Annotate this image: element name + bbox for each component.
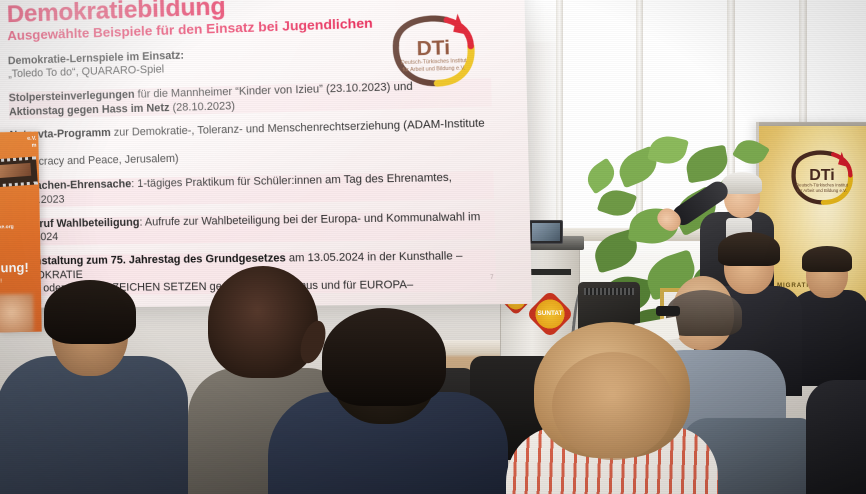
rollup-url-fragment: cke.org [0, 224, 40, 231]
rollup-fragment-top: e.V. m [27, 136, 37, 150]
projection-screen: DTi Deutsch-Türkisches Institut für Arbe… [0, 0, 532, 308]
audience-blonde-striped [516, 330, 706, 494]
rollup-headline-fragment: dung! [0, 260, 29, 276]
audience-dark-hair-left [18, 288, 168, 494]
slide-bullet-3: Netzavta-Programm zur Demokratie-, Toler… [10, 118, 494, 171]
slide-bullet-4: Mitmachen-Ehrensache: 1-tägiges Praktiku… [11, 171, 494, 208]
dti-logo-sub1: Deutsch-Türkisches Institut [796, 182, 849, 187]
bullet-lead: Veranstaltung zum 75. Jahrestag des Grun… [12, 252, 285, 268]
bullet-line2-lead: Aktionstag gegen Hass im Netz [9, 101, 170, 118]
audience-navy-shirt-front [286, 320, 486, 494]
svg-text:DTi: DTi [416, 38, 450, 61]
svg-text:DTi: DTi [809, 166, 835, 184]
dti-slide-sub2: für Arbeit und Bildung e.V. [402, 65, 465, 73]
audience-edge-shoulder [806, 380, 866, 494]
presentation-room-photo: DTi Deutsch-Türkisches Institut für Arbe… [0, 0, 866, 494]
laptop-on-podium[interactable] [529, 220, 563, 244]
film-strip-graphic [0, 156, 38, 187]
slide-page-number: 7 [490, 275, 494, 281]
slide-content: DTi Deutsch-Türkisches Institut für Arbe… [7, 0, 524, 308]
slide-bullet-5: Weckruf Wahlbeteiligung: Aufrufe zur Wah… [12, 210, 495, 245]
rollup-subtext-fragment: g! [0, 278, 2, 284]
bullet-line2: (28.10.2023) [169, 100, 235, 114]
bullet-rest: für die Mannheimer “Kinder von Izieu” (2… [134, 81, 412, 101]
dti-logo-sub2: für Arbeit und Bildung e.V. [797, 188, 847, 193]
dti-logo-slide-icon: DTi Deutsch-Türkisches Institut für Arbe… [383, 8, 479, 97]
eyeglasses [656, 306, 680, 316]
